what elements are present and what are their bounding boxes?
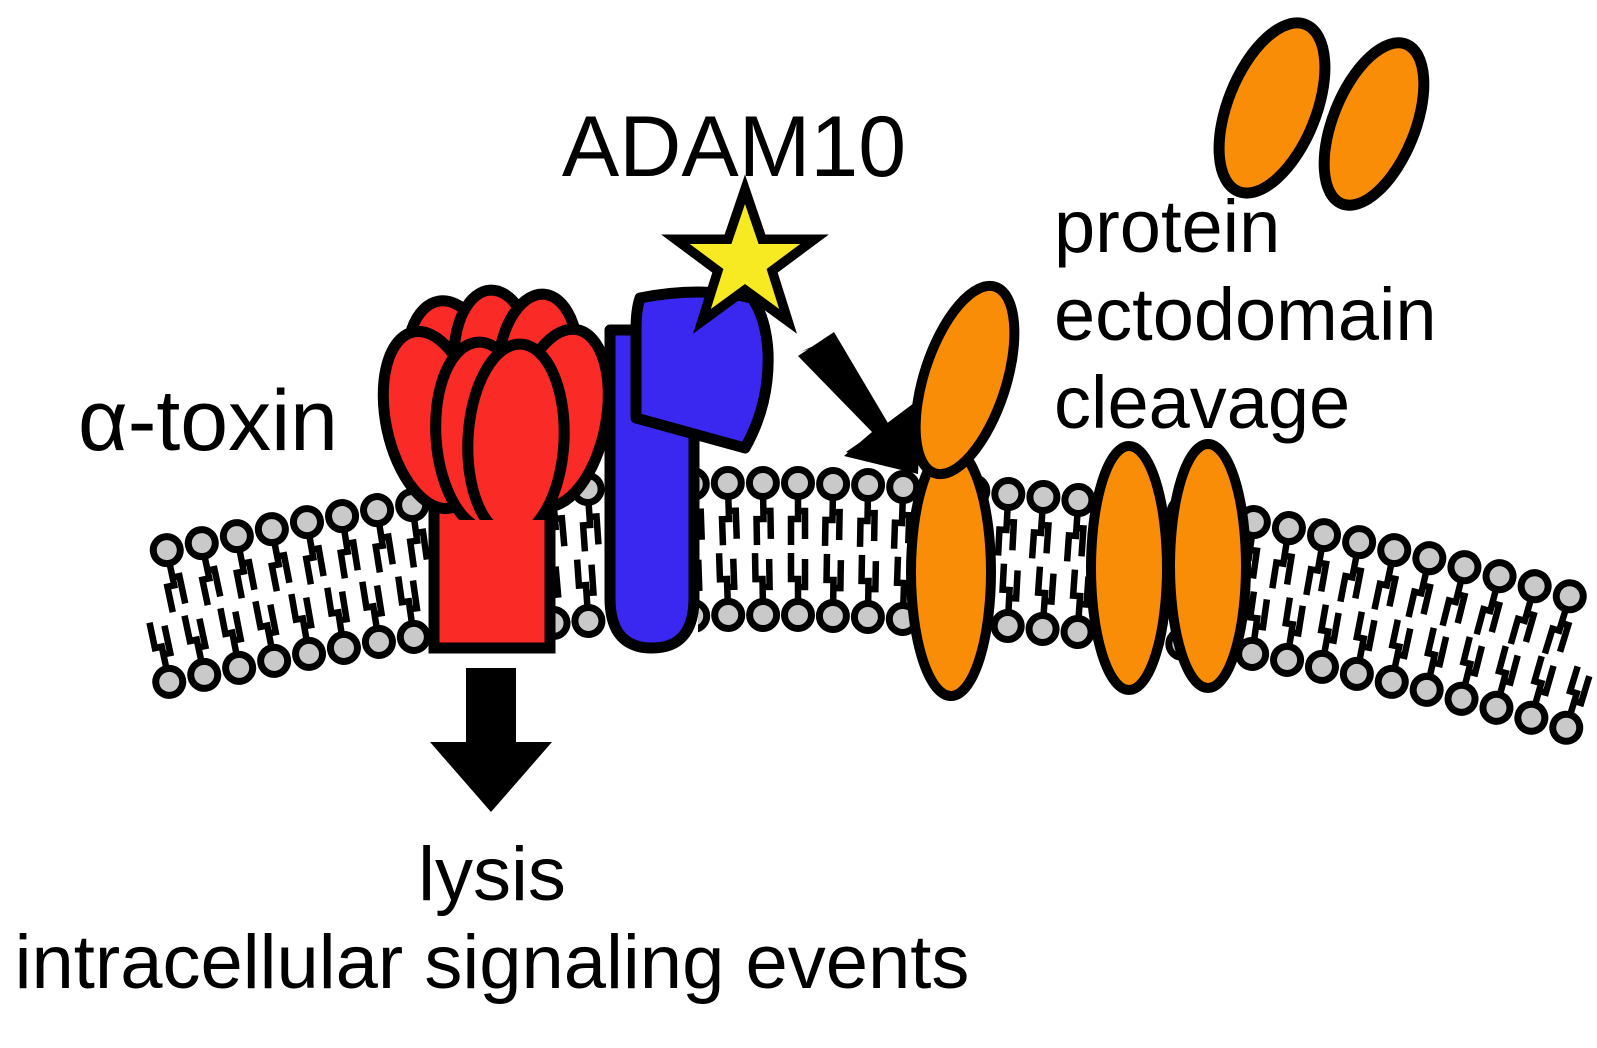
lipid-bilayer [143, 469, 1597, 745]
protein-label-line3: cleavage [1054, 361, 1350, 444]
cleaved-stub-1 [1091, 446, 1167, 690]
alpha-toxin-label: α-toxin [78, 373, 338, 469]
adam10-protein [610, 292, 768, 648]
star-icon [690, 204, 800, 309]
protein-label-line1: protein [1054, 185, 1280, 268]
alpha-toxin-stem-front [434, 520, 550, 648]
protein-label-line2: ectodomain [1054, 273, 1437, 356]
diagram-canvas: ADAM10 α-toxin protein ectodomain cleava… [0, 0, 1597, 1048]
adam10-label: ADAM10 [562, 99, 906, 195]
arrow-down-icon [430, 668, 552, 812]
substrate-transmembrane-domain [911, 448, 991, 696]
signaling-label: intracellular signaling events [15, 920, 970, 1005]
membrane-schematic: ADAM10 α-toxin protein ectodomain cleava… [0, 0, 1597, 1048]
cleaved-stub-2 [1170, 444, 1246, 688]
lysis-label: lysis [418, 832, 566, 917]
arrow-down-right-icon [798, 332, 922, 474]
